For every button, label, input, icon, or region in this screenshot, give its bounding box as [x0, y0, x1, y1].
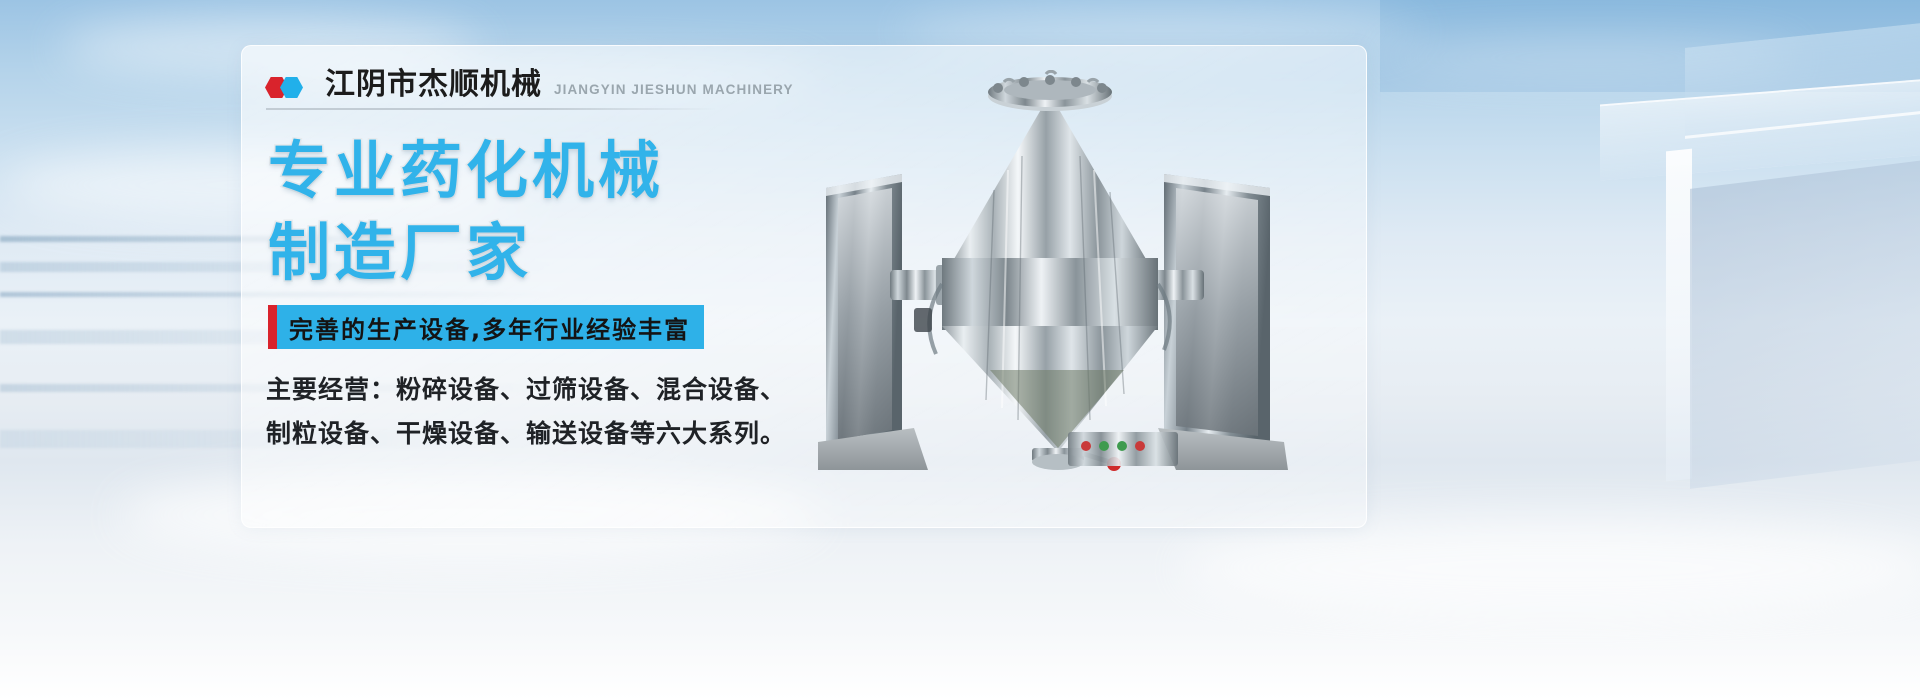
cloud-wisp: [1180, 520, 1920, 616]
double-cone-dryer-icon: [818, 70, 1288, 480]
promo-banner: 江阴市杰顺机械 JIANGYIN JIESHUN MACHINERY 专业药化机…: [0, 0, 1920, 700]
body-line-1: 主要经营：粉碎设备、过筛设备、混合设备、: [266, 368, 786, 412]
company-name-cn: 江阴市杰顺机械: [325, 70, 542, 100]
logo-divider: [266, 108, 716, 110]
wall-panel: [1690, 147, 1920, 489]
body-copy: 主要经营：粉碎设备、过筛设备、混合设备、 制粒设备、干燥设备、输送设备等六大系列…: [266, 368, 786, 455]
brand-logo[interactable]: 江阴市杰顺机械 JIANGYIN JIESHUN MACHINERY: [265, 70, 794, 100]
highlight-bar: 完善的生产设备,多年行业经验丰富: [268, 305, 704, 349]
headline-line-1: 专业药化机械: [268, 134, 664, 207]
company-name-en: JIANGYIN JIESHUN MACHINERY: [554, 82, 794, 100]
headline: 专业药化机械 制造厂家: [268, 130, 664, 294]
headline-line-2: 制造厂家: [268, 212, 664, 294]
wall-edge: [1666, 149, 1692, 482]
highlight-bar-text: 完善的生产设备,多年行业经验丰富: [289, 310, 690, 345]
product-photo: [818, 70, 1288, 480]
hexagon-logo-icon: [265, 74, 313, 100]
body-line-2: 制粒设备、干燥设备、输送设备等六大系列。: [266, 412, 786, 456]
